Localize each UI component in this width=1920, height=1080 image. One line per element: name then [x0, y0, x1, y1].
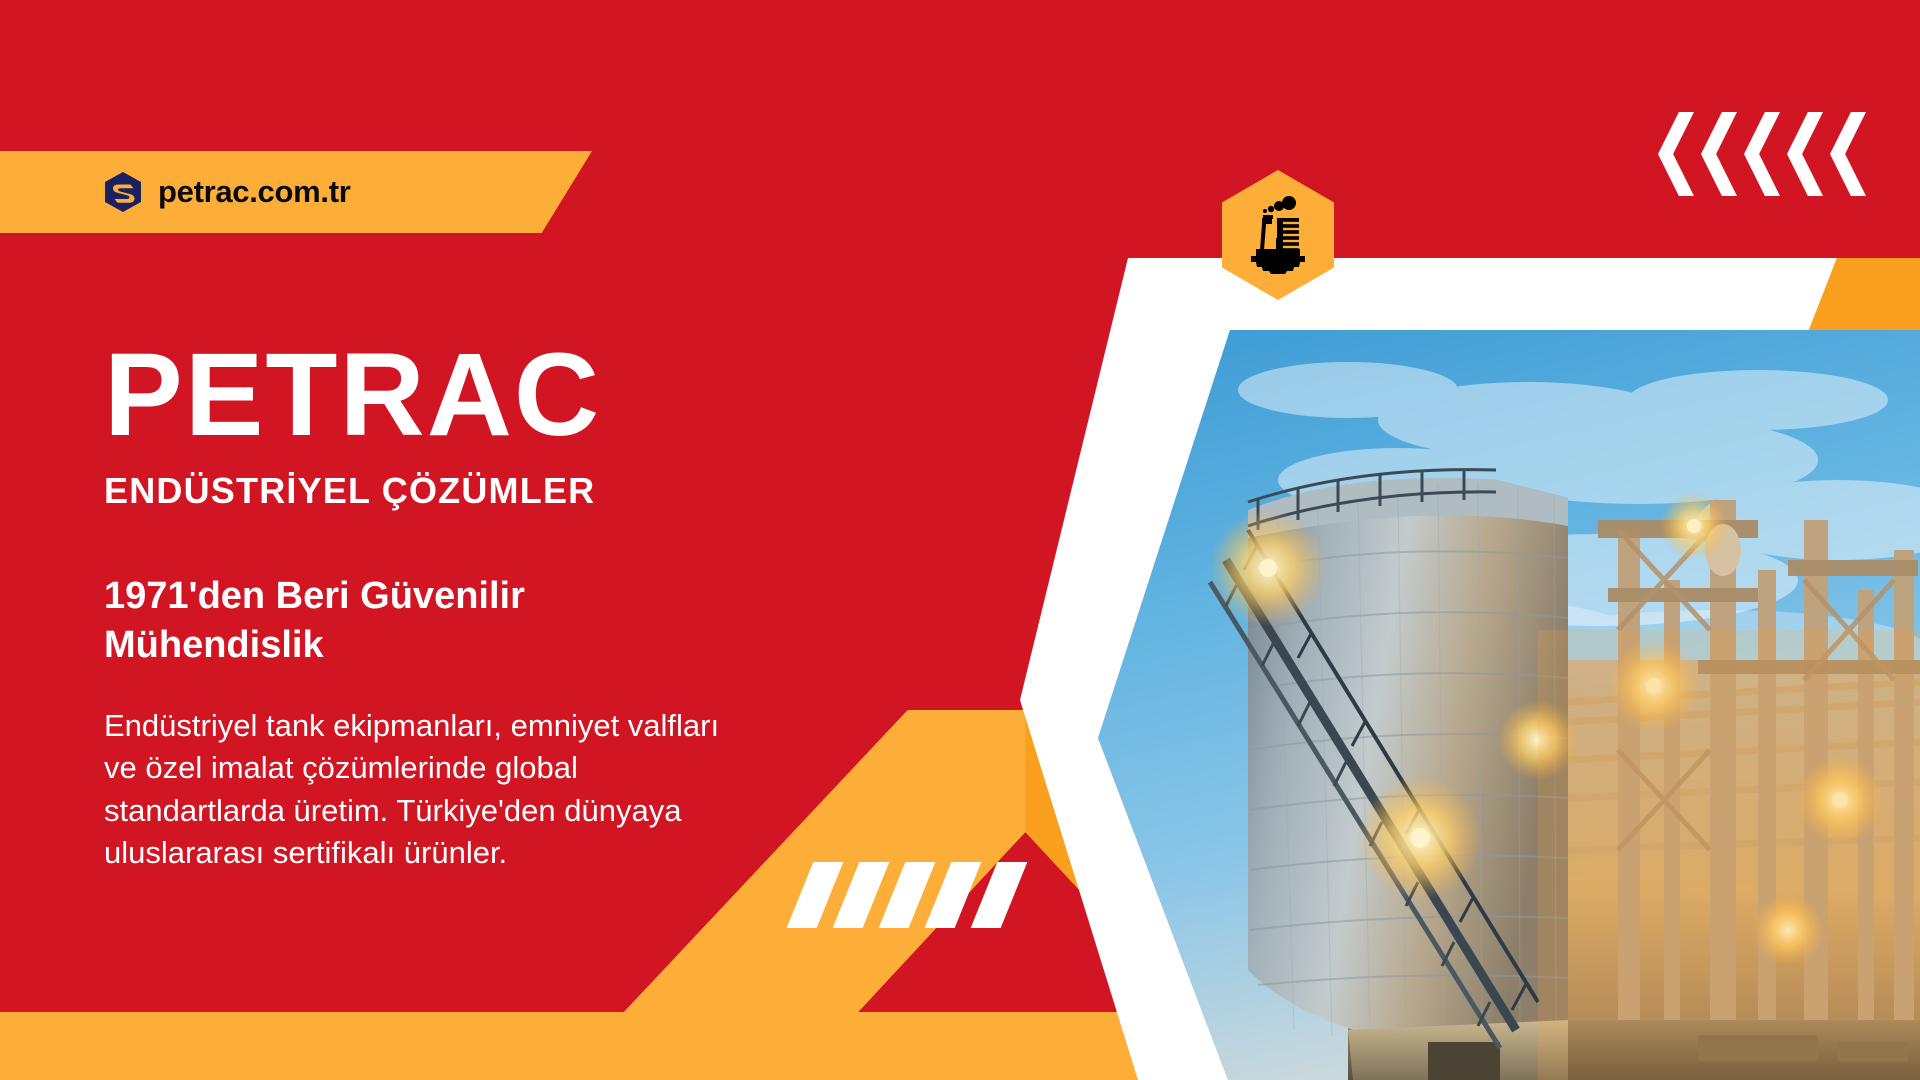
body-paragraph: Endüstriyel tank ekipmanları, emniyet va… [104, 705, 744, 874]
chevron-left-icon [1787, 112, 1823, 196]
stripe-bar [833, 862, 890, 928]
stripe-bar [971, 862, 1028, 928]
website-url-text: petrac.com.tr [158, 174, 351, 210]
brand-subtitle: ENDÜSTRİYEL ÇÖZÜMLER [104, 470, 764, 512]
promo-banner: petrac.com.tr PETRAC ENDÜSTRİYEL ÇÖZÜMLE… [0, 0, 1920, 1080]
factory-gear-icon [1246, 194, 1310, 276]
chevron-arrows-decor [1658, 112, 1866, 196]
chevron-left-icon [1658, 112, 1694, 196]
website-banner[interactable]: petrac.com.tr [0, 151, 592, 233]
chevron-left-icon [1830, 112, 1866, 196]
hexagon-s-logo-icon [104, 172, 142, 212]
stripe-bar [879, 862, 936, 928]
industry-hex-badge [1222, 170, 1334, 300]
copy-block: PETRAC ENDÜSTRİYEL ÇÖZÜMLER 1971'den Ber… [104, 336, 764, 874]
chevron-left-icon [1701, 112, 1737, 196]
stripe-bar [925, 862, 982, 928]
diagonal-stripes-decor [800, 862, 1062, 928]
chevron-left-icon [1744, 112, 1780, 196]
industrial-refinery-photo [1098, 330, 1920, 1080]
tagline-text: 1971'den Beri Güvenilir Mühendislik [104, 572, 624, 669]
page-title: PETRAC [104, 336, 764, 454]
